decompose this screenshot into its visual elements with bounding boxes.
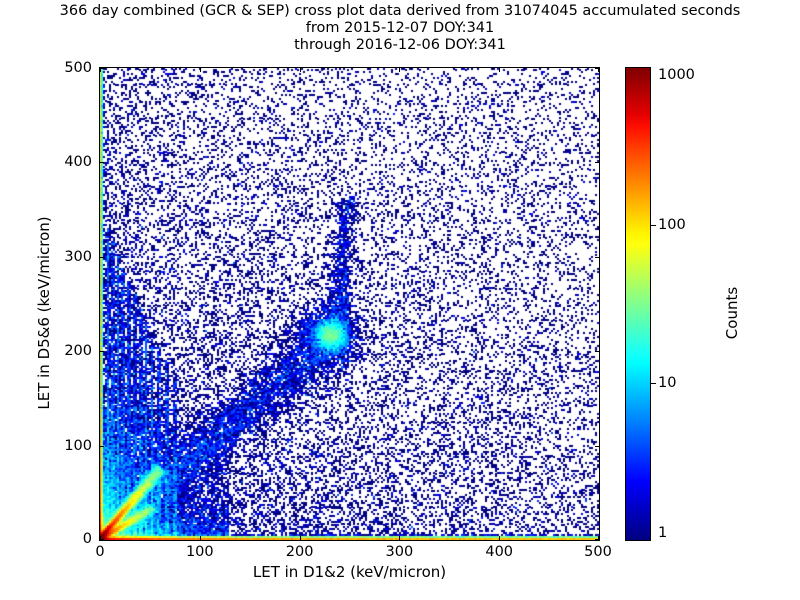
y-tick-mark-right <box>595 539 599 540</box>
plot-area <box>99 67 600 541</box>
x-tick-mark <box>399 536 400 540</box>
title-line-3: through 2016-12-06 DOY:341 <box>0 37 800 54</box>
title-line-1: 366 day combined (GCR & SEP) cross plot … <box>0 3 800 20</box>
colorbar <box>625 67 651 541</box>
x-tick-mark <box>200 536 201 540</box>
y-tick-mark <box>100 68 104 69</box>
colorbar-tick-label: 100 <box>658 217 686 233</box>
x-axis-label: LET in D1&2 (keV/micron) <box>99 563 600 581</box>
colorbar-label: Counts <box>723 193 741 433</box>
y-tick-mark <box>100 446 104 447</box>
colorbar-tick-label: 1000 <box>658 67 695 83</box>
colorbar-gradient <box>626 68 650 540</box>
y-tick-mark <box>100 539 104 540</box>
y-tick-mark <box>100 162 104 163</box>
y-axis-label: LET in D5&6 (keV/micron) <box>35 173 53 453</box>
x-tick-label: 300 <box>386 544 414 560</box>
x-tick-mark-top <box>499 68 500 72</box>
x-tick-label: 0 <box>95 544 104 560</box>
x-tick-mark-top <box>300 68 301 72</box>
heatmap-canvas <box>100 68 599 540</box>
colorbar-tick-mark <box>651 225 656 226</box>
y-tick-mark-right <box>595 162 599 163</box>
cross-plot-figure: 366 day combined (GCR & SEP) cross plot … <box>0 0 800 600</box>
y-tick-mark-right <box>595 351 599 352</box>
x-tick-label: 200 <box>286 544 314 560</box>
x-tick-mark <box>300 536 301 540</box>
figure-title: 366 day combined (GCR & SEP) cross plot … <box>0 3 800 54</box>
y-tick-label: 0 <box>40 531 92 547</box>
title-line-2: from 2015-12-07 DOY:341 <box>0 20 800 37</box>
y-tick-mark-right <box>595 446 599 447</box>
y-tick-mark <box>100 257 104 258</box>
y-tick-label: 500 <box>40 60 92 76</box>
y-tick-label: 400 <box>40 154 92 170</box>
y-tick-mark-right <box>595 257 599 258</box>
colorbar-tick-label: 10 <box>658 375 676 391</box>
x-tick-label: 500 <box>584 544 612 560</box>
colorbar-tick-label: 1 <box>658 525 667 541</box>
x-tick-mark-top <box>399 68 400 72</box>
y-tick-mark-right <box>595 68 599 69</box>
x-tick-label: 400 <box>485 544 513 560</box>
x-tick-mark <box>499 536 500 540</box>
y-tick-mark <box>100 351 104 352</box>
x-tick-label: 100 <box>186 544 214 560</box>
x-tick-mark-top <box>200 68 201 72</box>
colorbar-tick-mark <box>651 383 656 384</box>
